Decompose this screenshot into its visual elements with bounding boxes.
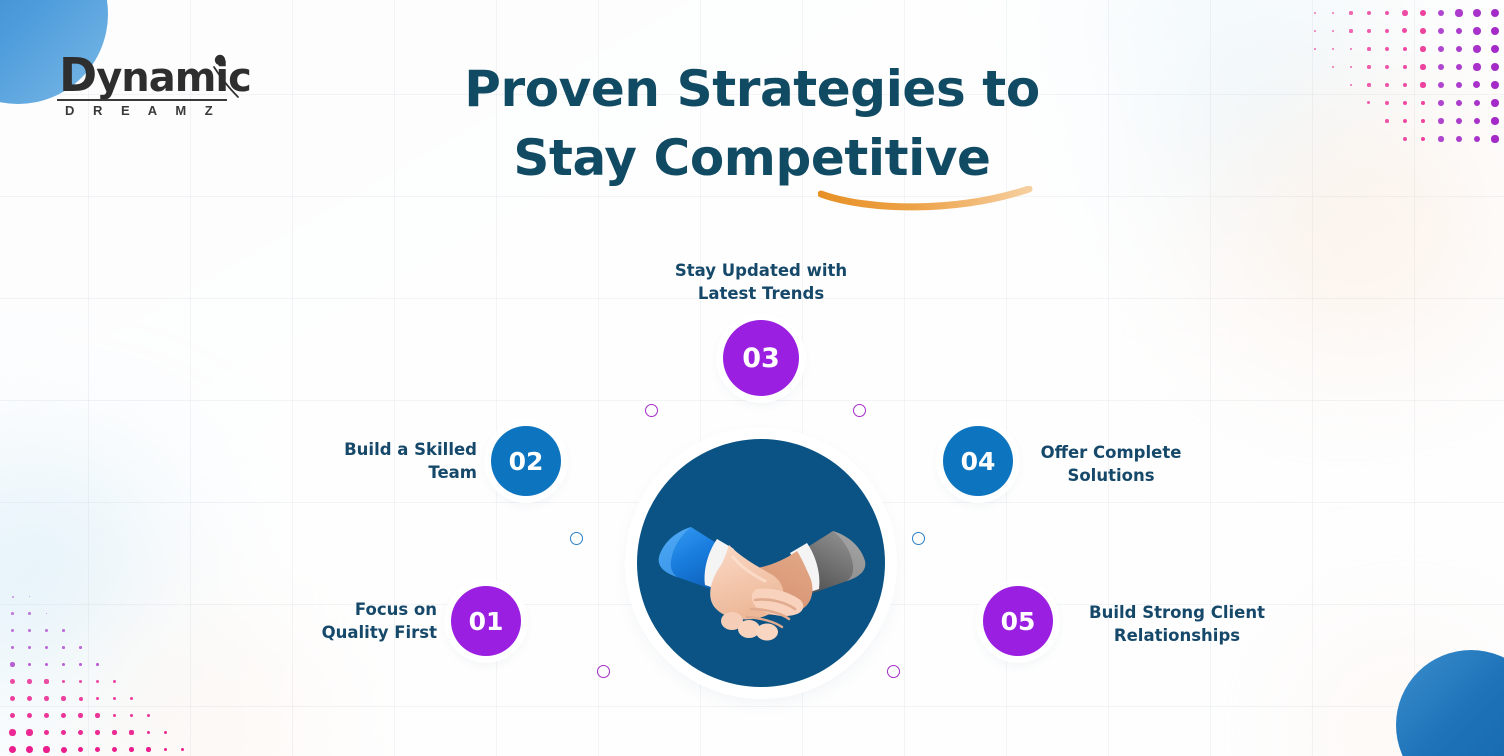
orbit-ring-mid-right [912, 532, 925, 545]
halftone-dot [79, 663, 82, 666]
halftone-dot [28, 612, 30, 614]
step-04-badge[interactable]: 04 [943, 426, 1013, 496]
halftone-dot [9, 746, 16, 753]
halftone-dot [1438, 28, 1444, 34]
halftone-dot [130, 697, 133, 700]
step-01-label: Focus onQuality First [237, 598, 437, 644]
step-01-label-line-2: Quality First [237, 621, 437, 644]
halftone-dot [79, 680, 82, 683]
halftone-dot [28, 646, 31, 649]
step-03-label: Stay Updated withLatest Trends [613, 259, 909, 305]
page-title: Proven Strategies to Stay Competitive [0, 55, 1504, 193]
step-04-label-line-2: Solutions [1013, 464, 1209, 487]
page-title-line-2: Stay Competitive [0, 124, 1504, 193]
halftone-dot [27, 713, 33, 719]
halftone-dot [62, 629, 64, 631]
halftone-dot [10, 662, 14, 666]
halftone-dot [1420, 46, 1426, 52]
halftone-dot [1403, 47, 1408, 52]
halftone-dot [1332, 48, 1334, 50]
halftone-dot [61, 730, 66, 735]
halftone-dot [46, 613, 48, 615]
halftone-dot [61, 747, 67, 753]
page-title-line-1: Proven Strategies to [0, 55, 1504, 124]
halftone-dot [10, 696, 15, 701]
halftone-dot [1367, 29, 1371, 33]
orbit-ring-bottom-right [887, 665, 900, 678]
halftone-dot [1491, 27, 1499, 35]
orbit-ring-bottom-left [597, 665, 610, 678]
halftone-dot [1438, 46, 1444, 52]
halftone-dot [45, 646, 48, 649]
orbit-ring-top-right [853, 404, 866, 417]
halftone-dot [11, 646, 15, 650]
step-05-badge[interactable]: 05 [983, 586, 1053, 656]
halftone-dot [62, 646, 65, 649]
step-04-label-line-1: Offer Complete [1013, 441, 1209, 464]
halftone-dot [78, 747, 84, 753]
step-01-badge[interactable]: 01 [451, 586, 521, 656]
step-02-label-line-1: Build a Skilled [277, 438, 477, 461]
halftone-dot [95, 747, 100, 752]
step-01-label-line-1: Focus on [237, 598, 437, 621]
halftone-dot [62, 680, 66, 684]
orbit-ring-mid-left [570, 532, 583, 545]
halftone-dot [27, 679, 31, 683]
halftone-dot [1456, 46, 1463, 53]
halftone-dot [9, 729, 15, 735]
halftone-dot [164, 731, 167, 734]
step-03-label-line-2: Latest Trends [613, 282, 909, 305]
halftone-dot [44, 713, 49, 718]
halftone-dot [1402, 28, 1407, 33]
step-05-label: Build Strong ClientRelationships [1053, 601, 1301, 647]
halftone-dot [10, 679, 15, 684]
halftone-dot [11, 612, 14, 615]
halftone-dot [1402, 10, 1407, 15]
halftone-dot [1332, 30, 1335, 33]
halftone-dot [45, 629, 47, 631]
orange-swoosh-icon [818, 186, 1034, 216]
halftone-dot [44, 696, 49, 701]
halftone-dot [1420, 10, 1426, 16]
step-05-label-line-2: Relationships [1053, 624, 1301, 647]
halftone-dot [113, 680, 116, 683]
halftone-dot [1385, 47, 1389, 51]
halftone-dot [1332, 12, 1335, 15]
orbit-ring-top-left [645, 404, 658, 417]
halftone-dot [62, 663, 65, 666]
halftone-dot [1420, 28, 1426, 34]
halftone-dot [164, 748, 168, 752]
halftone-dot [29, 596, 31, 598]
halftone-dot [181, 748, 185, 752]
halftone-dot [10, 713, 16, 719]
step-02-badge[interactable]: 02 [491, 426, 561, 496]
halftone-dot [96, 680, 99, 683]
halftone-dot [147, 731, 151, 735]
halftone-dot [43, 746, 49, 752]
halftone-dot [26, 746, 33, 753]
halftone-dot [1367, 11, 1371, 15]
halftone-dot [11, 629, 14, 632]
halftone-dot [79, 646, 81, 648]
halftone-dot [44, 679, 48, 683]
halftone-dot [78, 730, 83, 735]
halftone-dot [1491, 9, 1499, 17]
halftone-dot [79, 697, 83, 701]
halftone-dot [129, 730, 133, 734]
halftone-dot [61, 713, 66, 718]
halftone-dot [129, 747, 134, 752]
infographic-canvas: Dynamic D R E A M Z Proven Strategies to… [0, 0, 1504, 756]
halftone-dot [1349, 29, 1352, 32]
halftone-dot [1473, 9, 1481, 17]
halftone-dot [146, 747, 150, 751]
halftone-dot [113, 714, 117, 718]
halftone-dot [96, 697, 100, 701]
halftone-dot [61, 696, 65, 700]
halftone-dot [1473, 27, 1481, 35]
halftone-dot [1438, 10, 1445, 17]
halftone-dot [1350, 48, 1353, 51]
handshake-icon [637, 439, 885, 687]
step-04-label: Offer CompleteSolutions [1013, 441, 1209, 487]
step-03-badge[interactable]: 03 [723, 320, 799, 396]
halftone-dot [27, 696, 32, 701]
halftone-dot [1385, 11, 1390, 16]
halftone-dot [1385, 29, 1389, 33]
halftone-dot [112, 730, 116, 734]
halftone-dots-bottom-left-icon [0, 586, 200, 756]
halftone-dot [1456, 28, 1463, 35]
halftone-dot [26, 729, 32, 735]
halftone-dot [1473, 45, 1480, 52]
halftone-dot [1455, 9, 1462, 16]
halftone-dot [95, 730, 100, 735]
halftone-dot [1349, 11, 1352, 14]
halftone-dot [1491, 45, 1499, 53]
halftone-dot [112, 747, 117, 752]
step-02-label: Build a SkilledTeam [277, 438, 477, 484]
step-05-label-line-1: Build Strong Client [1053, 601, 1301, 624]
halftone-dot [44, 730, 50, 736]
halftone-dot [95, 713, 99, 717]
halftone-dot [130, 714, 134, 718]
halftone-dot [12, 596, 14, 598]
halftone-dot [78, 713, 83, 718]
halftone-dot [147, 714, 150, 717]
halftone-dot [1314, 48, 1316, 50]
halftone-dot [113, 697, 116, 700]
halftone-dot [1314, 30, 1316, 32]
halftone-dot [45, 663, 49, 667]
halftone-dot [1367, 47, 1371, 51]
halftone-dot [96, 663, 99, 666]
halftone-dot [28, 629, 31, 632]
halftone-dot [1314, 12, 1316, 14]
step-02-label-line-2: Team [277, 461, 477, 484]
halftone-dot [28, 663, 32, 667]
step-03-label-line-1: Stay Updated with [613, 259, 909, 282]
